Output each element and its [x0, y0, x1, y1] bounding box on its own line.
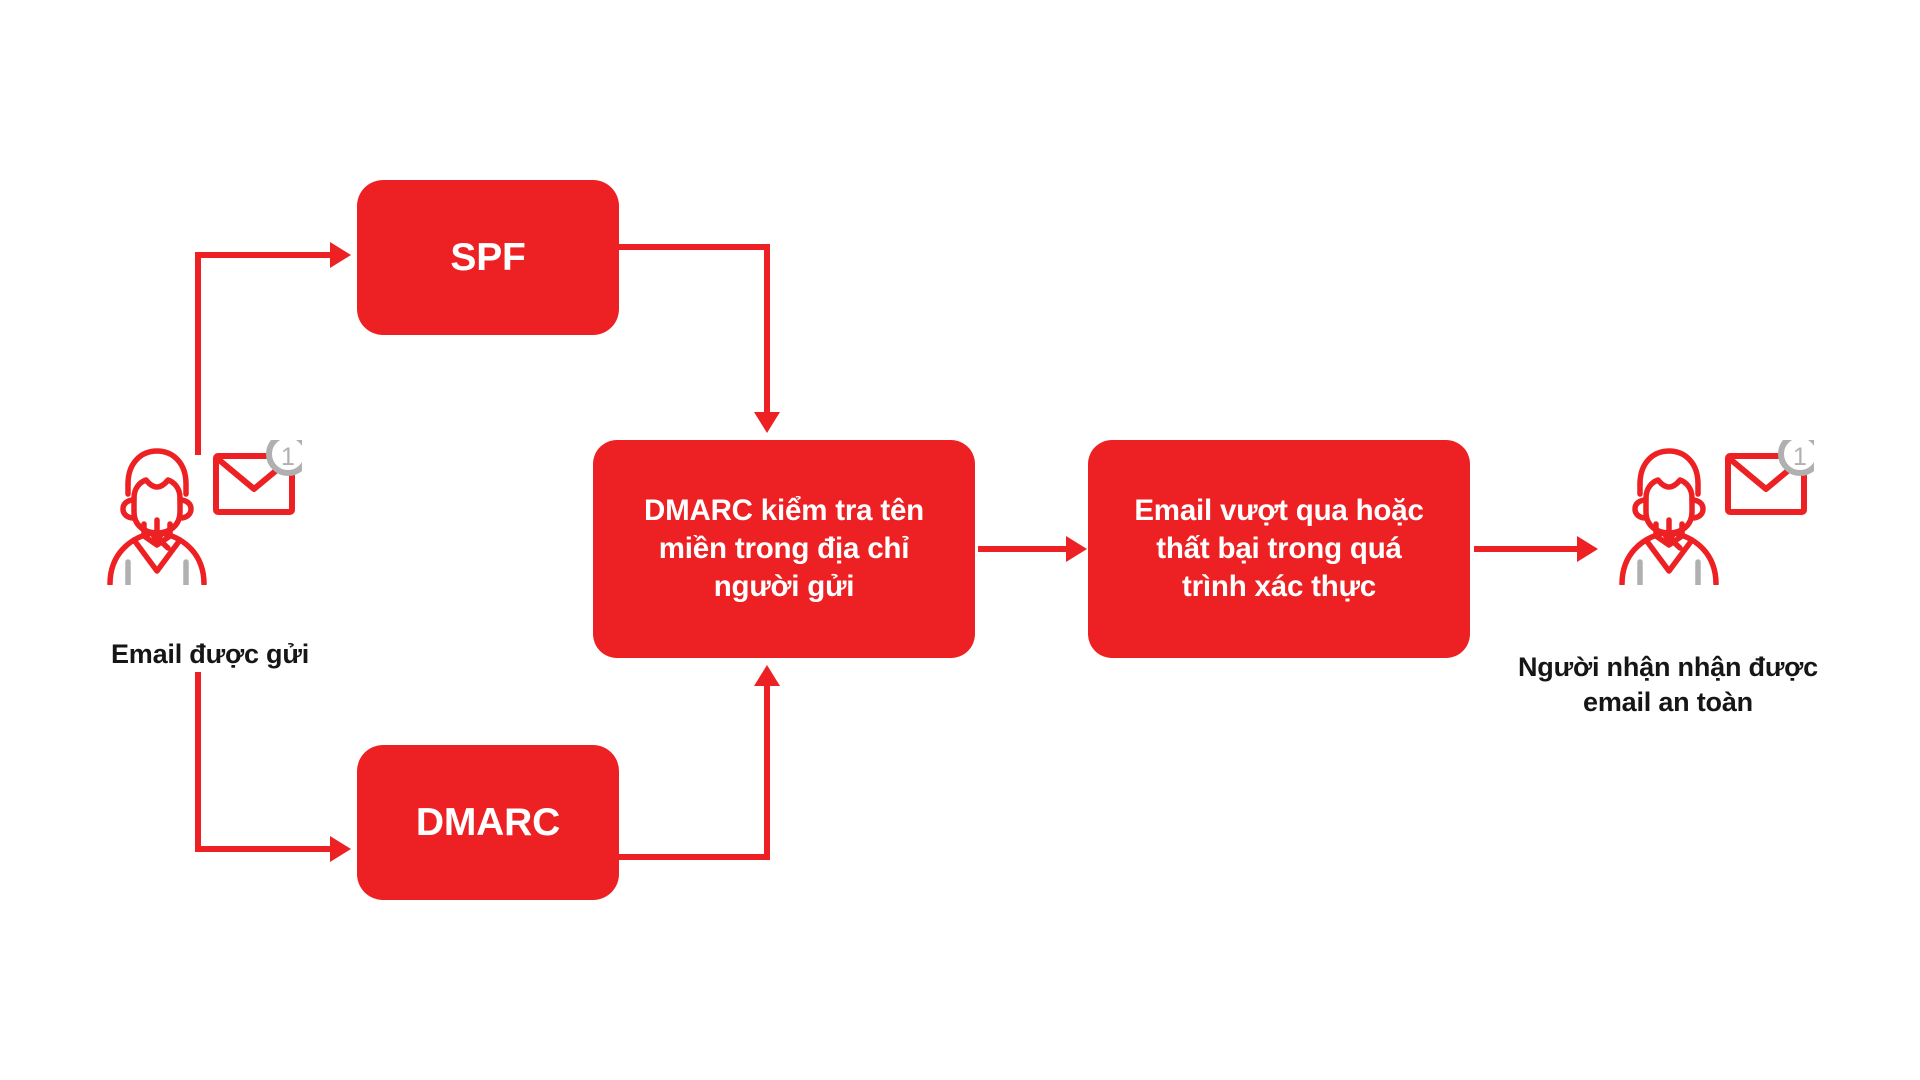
- diagram-canvas: SPF DMARC DMARC kiểm tra tên miền trong …: [0, 0, 1920, 1080]
- unread-count-badge-value: 1: [281, 443, 295, 471]
- connector-segment-horizontal: [195, 252, 330, 258]
- connector-segment-vertical: [764, 244, 770, 414]
- unread-count-badge: 1: [269, 440, 302, 473]
- node-dmarc-label: DMARC: [416, 798, 560, 848]
- person-body-icon: [110, 520, 204, 584]
- recipient-figure-group: 1: [1604, 440, 1814, 585]
- node-dmarc-domain-check[interactable]: DMARC kiểm tra tên miền trong địa chỉ ng…: [593, 440, 975, 658]
- unread-count-badge-value: 1: [1793, 443, 1807, 471]
- arrowhead-right-icon: [1066, 536, 1087, 562]
- node-authentication-result[interactable]: Email vượt qua hoặc thất bại trong quá t…: [1088, 440, 1470, 658]
- sender-person-with-email-icon: 1: [92, 440, 302, 585]
- connector-segment-horizontal: [195, 846, 330, 852]
- recipient-person-with-email-icon: 1: [1604, 440, 1814, 585]
- connector-segment-vertical: [764, 686, 770, 860]
- connector-segment-horizontal: [613, 854, 770, 860]
- sender-figure-group: 1: [92, 440, 302, 585]
- arrowhead-right-icon: [330, 242, 351, 268]
- node-spf[interactable]: SPF: [357, 180, 619, 335]
- node-spf-label: SPF: [450, 233, 525, 283]
- unread-count-badge: 1: [1781, 440, 1814, 473]
- arrowhead-down-icon: [754, 412, 780, 433]
- arrowhead-right-icon: [1577, 536, 1598, 562]
- person-body-icon: [1622, 520, 1716, 584]
- arrowhead-right-icon: [330, 836, 351, 862]
- caption-email-sent: Email được gửi: [30, 637, 390, 672]
- connector-segment-horizontal: [613, 244, 770, 250]
- arrowhead-up-icon: [754, 665, 780, 686]
- node-authentication-result-label: Email vượt qua hoặc thất bại trong quá t…: [1134, 492, 1423, 605]
- connector-segment-vertical: [195, 672, 201, 852]
- node-dmarc[interactable]: DMARC: [357, 745, 619, 900]
- caption-recipient-receives-safe-email: Người nhận nhận được email an toàn: [1458, 650, 1878, 720]
- connector-segment-horizontal: [978, 546, 1070, 552]
- node-dmarc-domain-check-label: DMARC kiểm tra tên miền trong địa chỉ ng…: [644, 492, 924, 605]
- connector-segment-horizontal: [1474, 546, 1580, 552]
- connector-segment-vertical: [195, 252, 201, 455]
